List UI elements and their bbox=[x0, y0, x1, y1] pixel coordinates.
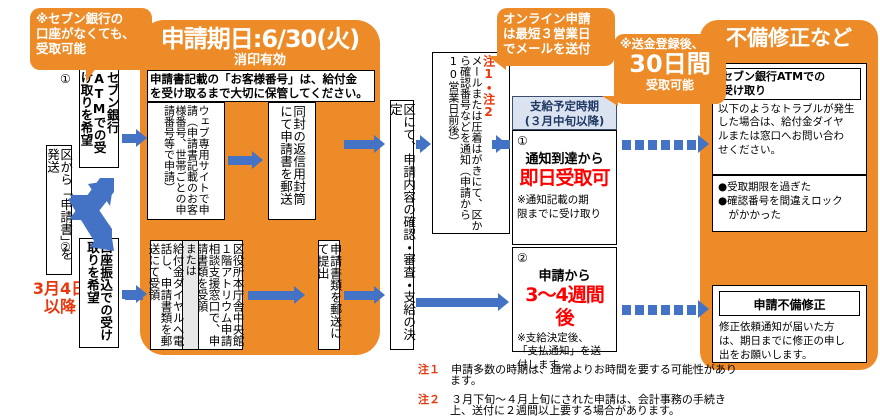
callout-seven-bank: ※セブン銀行の 口座がなくても、 受取可能 bbox=[30, 8, 152, 70]
route-mail-box: 同封の返信用封筒にて申請書を郵送 bbox=[268, 102, 316, 220]
callout-thirty-days-tail bbox=[602, 96, 618, 106]
route-submit-text: 申請書類を郵送にて提出 bbox=[316, 243, 341, 347]
callout-seven-bank-line1: ※セブン銀行の bbox=[36, 12, 146, 27]
trouble-bullet-1: ●受取期限を過ぎた bbox=[718, 180, 861, 194]
trouble-box-amend: 申請不備修正 修正依頼通知が届いた方 は、期日までに修正の申し 出をお願いします… bbox=[712, 285, 867, 363]
route-window-box: 区役所本庁舎中央館１階アトリウム申請相談支援窓口で、申請書類を受領 bbox=[198, 240, 243, 350]
trouble-panel-title: 不備修正など bbox=[700, 28, 878, 49]
callout-online: オンライン申請 は最短３営業日 でメールを送付 bbox=[497, 8, 615, 66]
customer-number-notice: 申請書記載の「お客様番号」は、給付金 を受け取るまで大切に保管してください。 bbox=[147, 70, 375, 102]
route-web-box: ウェブ専用サイトで申請（申請書記載のお客様番号、世帯ごとの申請番号等で申請） bbox=[147, 102, 225, 220]
route-or-text: または bbox=[185, 243, 197, 347]
arrow-web-to-mail bbox=[228, 156, 254, 165]
review-box: 区にて、申請内容の確認・審査・支給の決定 bbox=[390, 100, 414, 350]
review-text: 区にて、申請内容の確認・審査・支給の決定 bbox=[389, 103, 415, 347]
amend-body-line1: 修正依頼通知が届いた方 bbox=[719, 320, 860, 334]
arrow-submit-to-review bbox=[344, 291, 376, 300]
trouble-heading-line1: セブン銀行ATMでの bbox=[722, 70, 857, 84]
trouble-bullets-box: ●受取期限を過ぎた ●確認番号を間違えロック がかかった bbox=[712, 175, 867, 232]
arrow-receive-to-submit bbox=[248, 291, 296, 300]
footnote-1-line1: 申請多数の時期は、通常よりお時間を要する可能性があり bbox=[451, 363, 737, 376]
footnote-2-label: 注２ bbox=[418, 393, 440, 406]
trouble-bullet-3: がかかった bbox=[718, 208, 861, 222]
schedule-item-2-highlight: 3〜4週間後 bbox=[517, 284, 612, 330]
notify-text: メールまたは圧着はがきにて、区から確認番号などを通知（申請から10営業日前後） bbox=[447, 55, 482, 231]
callout-thirty-days-top: ※送金登録後、 bbox=[620, 37, 720, 51]
route-window-text: 区役所本庁舎中央館１階アトリウム申請相談支援窓口で、申請書類を受領 bbox=[196, 243, 244, 347]
notice-line-2: を受け取るまで大切に保管してください。 bbox=[150, 86, 372, 100]
schedule-item-1-number: ① bbox=[517, 134, 612, 148]
trouble-box-seven-bank: セブン銀行ATMでの 受け取り 以下のようなトラブルが発生 した場合は、給付金ダ… bbox=[712, 63, 867, 175]
schedule-item-1: ① 通知到達から 即日受取可 ※通知記載の期 限までに受け取り bbox=[512, 130, 617, 245]
route-web-text: ウェブ専用サイトで申請（申請書記載のお客様番号、世帯ごとの申請番号等で申請） bbox=[163, 105, 209, 217]
callout-seven-bank-line2: 口座がなくても、 bbox=[36, 27, 146, 42]
callout-online-line2: は最短３営業日 bbox=[503, 27, 609, 42]
notice-line-1: 申請書記載の「お客様番号」は、給付金 bbox=[150, 72, 372, 86]
route-dial-box: 給付金ダイヤルへ電話し、申請書類を郵送にて受領 bbox=[150, 240, 183, 350]
schedule-item-2-number: ② bbox=[517, 251, 612, 265]
callout-thirty-days: ※送金登録後、 30日間 受取可能 bbox=[614, 34, 726, 104]
option-1-number: ① bbox=[60, 72, 71, 86]
schedule-item-1-note-line1: ※通知記載の期 bbox=[517, 193, 612, 207]
arrow-review-to-schedule2 bbox=[416, 298, 500, 307]
callout-online-line3: でメールを送付 bbox=[503, 42, 609, 57]
callout-seven-bank-tail bbox=[86, 68, 96, 82]
callout-thirty-days-bottom: 受取可能 bbox=[620, 78, 720, 92]
schedule-item-2-note-line2: 「支払通知」を送 bbox=[517, 345, 612, 359]
schedule-item-2-note-line1: ※支給決定後、 bbox=[517, 332, 612, 346]
callout-thirty-days-big: 30日間 bbox=[620, 51, 720, 77]
amend-heading: 申請不備修正 bbox=[753, 298, 825, 312]
schedule-item-2: ② 申請から 3〜4週間後 ※支給決定後、 「支払通知」を送 付します。 bbox=[512, 247, 617, 352]
apply-panel-title: 申請期日:6/30(火) bbox=[143, 27, 377, 51]
trouble-body-line1: 以下のようなトラブルが発生 bbox=[718, 103, 861, 117]
apply-panel-subtitle: 消印有効 bbox=[143, 54, 377, 67]
trouble-heading-line2: 受け取り bbox=[722, 84, 857, 98]
schedule-item-1-note-line2: 限までに受け取り bbox=[517, 207, 612, 221]
amend-body-line2: は、期日までに修正の申し bbox=[719, 334, 860, 348]
trouble-body-line4: せください。 bbox=[718, 144, 861, 158]
trouble-box-heading: セブン銀行ATMでの 受け取り bbox=[718, 68, 861, 100]
callout-online-tail bbox=[488, 56, 506, 70]
footnote-1-cont: ます。 bbox=[450, 372, 482, 388]
route-dial-text: 給付金ダイヤルへ電話し、申請書類を郵送にて受領 bbox=[148, 243, 184, 347]
arrow-review-to-schedule2-head bbox=[498, 293, 509, 311]
amend-heading-box: 申請不備修正 bbox=[719, 291, 860, 316]
arrow-review-to-notify-head bbox=[420, 135, 431, 153]
arrow-notify-to-schedule-head bbox=[496, 135, 507, 153]
schedule-header-line2: (３月中旬以降) bbox=[513, 114, 616, 129]
schedule-item-1-highlight: 即日受取可 bbox=[517, 167, 612, 190]
arrow-option1-head bbox=[136, 129, 147, 147]
arrow-receive-to-submit-head bbox=[294, 286, 305, 304]
arrow-web-to-mail-head bbox=[252, 151, 263, 169]
schedule-header-line1: 支給予定時期 bbox=[513, 99, 616, 114]
route-mail-text: 同封の返信用封筒にて申請書を郵送 bbox=[279, 105, 305, 217]
arrow-start-to-option2 bbox=[68, 195, 128, 305]
schedule-item-1-lead: 通知到達から bbox=[517, 148, 612, 167]
trouble-body-line3: ルまたは窓口へお問い合わ bbox=[718, 130, 861, 144]
callout-online-line1: オンライン申請 bbox=[503, 12, 609, 27]
callout-seven-bank-line3: 受取可能 bbox=[36, 42, 146, 57]
route-submit-box: 申請書類を郵送にて提出 bbox=[318, 240, 340, 350]
footnote-1-label: 注１ bbox=[418, 363, 440, 376]
schedule-item-2-lead: 申請から bbox=[517, 265, 612, 284]
trouble-bullet-2: ●確認番号を間違えロック bbox=[718, 194, 861, 208]
arrow-mail-to-review-head bbox=[374, 135, 385, 153]
arrow-submit-to-review-head bbox=[374, 286, 385, 304]
trouble-body-line2: した場合は、給付金ダイヤ bbox=[718, 116, 861, 130]
footnote-2-cont: 上、送付に２週間以上要する場合があります。 bbox=[450, 402, 680, 418]
arrow-into-receive bbox=[125, 291, 143, 300]
arrow-mail-to-review bbox=[344, 140, 376, 149]
